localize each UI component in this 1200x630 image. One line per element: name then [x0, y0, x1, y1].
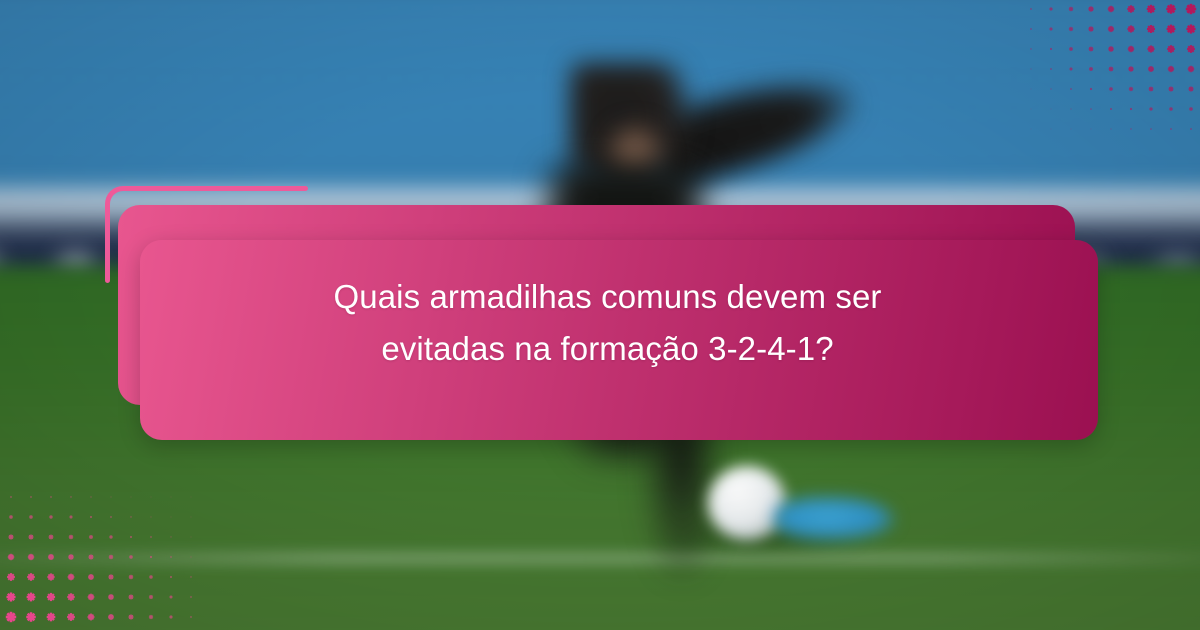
- headline-text: Quais armadilhas comuns devem ser evitad…: [140, 205, 1075, 440]
- social-card-image: Quais armadilhas comuns devem ser evitad…: [0, 0, 1200, 630]
- headline-line-2: evitadas na formação 3-2-4-1?: [381, 327, 833, 371]
- headline-line-1: Quais armadilhas comuns devem ser: [333, 275, 881, 319]
